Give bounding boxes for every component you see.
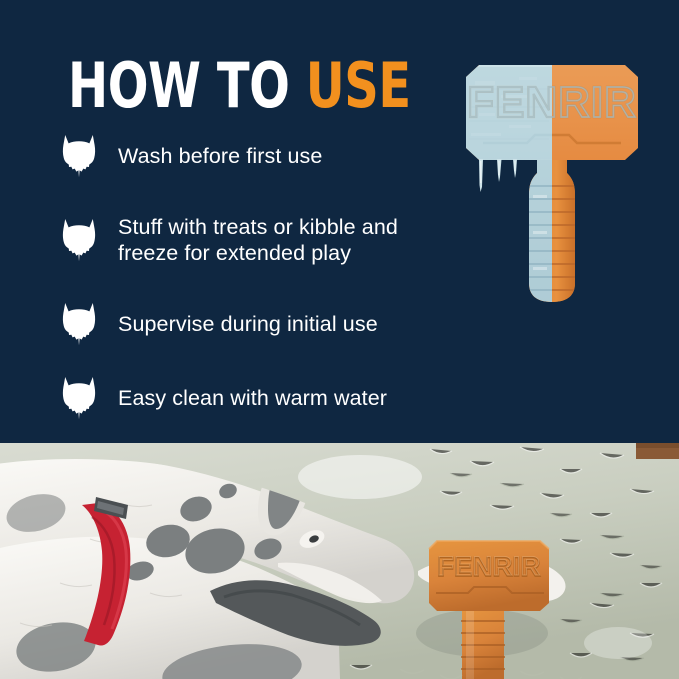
wolf-head-icon <box>62 376 96 420</box>
svg-text:FENRIR: FENRIR <box>467 78 637 127</box>
instruction-list: Wash before first use Stuff with treats … <box>62 132 462 420</box>
product-hero-image: FENRIR FENRIR FENRIR <box>449 55 655 315</box>
list-item: Wash before first use <box>62 134 462 178</box>
list-item: Easy clean with warm water <box>62 376 462 420</box>
svg-text:FENRIR: FENRIR <box>437 551 541 581</box>
how-to-use-infographic: HOW TO USE Wash before first use Stuff <box>0 0 679 679</box>
wolf-head-icon <box>62 302 96 346</box>
list-item-label: Wash before first use <box>118 143 322 169</box>
wolf-head-icon <box>62 218 96 262</box>
list-item: Stuff with treats or kibble and freeze f… <box>62 214 462 266</box>
icicles <box>479 159 517 192</box>
list-item-label: Easy clean with warm water <box>118 385 387 411</box>
page-title: HOW TO USE <box>68 55 411 117</box>
page-title-accent: USE <box>306 49 411 122</box>
lifestyle-photo: FENRIR FENRIR Great Dane with red collar… <box>0 443 679 679</box>
list-item-label: Supervise during initial use <box>118 311 378 337</box>
wolf-head-icon <box>62 134 96 178</box>
page-title-white: HOW TO <box>68 49 306 122</box>
list-item: Supervise during initial use <box>62 302 462 346</box>
list-item-label: Stuff with treats or kibble and freeze f… <box>118 214 462 266</box>
instructions-panel: HOW TO USE Wash before first use Stuff <box>0 0 679 443</box>
